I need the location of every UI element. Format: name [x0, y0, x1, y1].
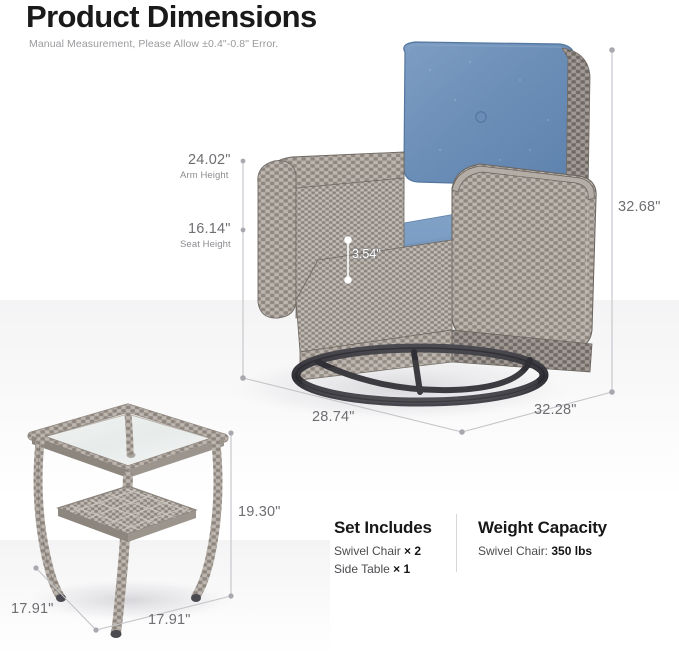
set-includes-item-0-name: Swivel Chair — [334, 544, 401, 558]
dimension-arm-height-label: Arm Height — [180, 170, 229, 181]
infographic-canvas: Product Dimensions Manual Measurement, P… — [0, 0, 679, 656]
dimension-overall-height-value: 32.68" — [618, 199, 661, 215]
set-includes-heading: Set Includes — [334, 518, 432, 538]
page-title: Product Dimensions — [26, 0, 317, 34]
set-includes-item-1-qty: × 1 — [393, 562, 410, 576]
dimension-seat-height-label: Seat Height — [180, 239, 231, 250]
dimension-chair-width-value: 32.28" — [534, 402, 577, 418]
dimension-table-width-value: 17.91" — [148, 612, 191, 628]
dimension-arm-height-value: 24.02" — [188, 152, 231, 168]
weight-capacity-label: Swivel Chair: — [478, 544, 548, 558]
set-includes-item-1-name: Side Table — [334, 562, 390, 576]
chair-dimension-ticks — [240, 47, 615, 435]
set-includes-item-0: Swivel Chair × 2 — [334, 544, 421, 558]
weight-capacity-value: 350 lbs — [551, 544, 592, 558]
cushion-thickness-marker — [345, 237, 351, 283]
weight-capacity-row: Swivel Chair: 350 lbs — [478, 544, 592, 558]
dimension-chair-depth-value: 28.74" — [312, 409, 355, 425]
swivel-chair-illustration — [258, 42, 596, 404]
dimension-table-height-value: 19.30" — [238, 504, 281, 520]
dimension-seat-height-value: 16.14" — [188, 221, 231, 237]
dimension-table-depth-value: 17.91" — [11, 601, 54, 617]
info-divider — [456, 514, 457, 572]
set-includes-item-0-qty: × 2 — [404, 544, 421, 558]
table-dimension-lines — [36, 433, 231, 630]
set-includes-item-1: Side Table × 1 — [334, 562, 410, 576]
side-table-illustration — [32, 408, 224, 638]
weight-capacity-heading: Weight Capacity — [478, 518, 607, 538]
chair-dimension-lines — [243, 50, 612, 432]
table-dimension-ticks — [33, 430, 233, 632]
dimension-cushion-thickness-value: 3.54" — [352, 247, 381, 261]
page-subtitle: Manual Measurement, Please Allow ±0.4"-0… — [29, 38, 278, 50]
